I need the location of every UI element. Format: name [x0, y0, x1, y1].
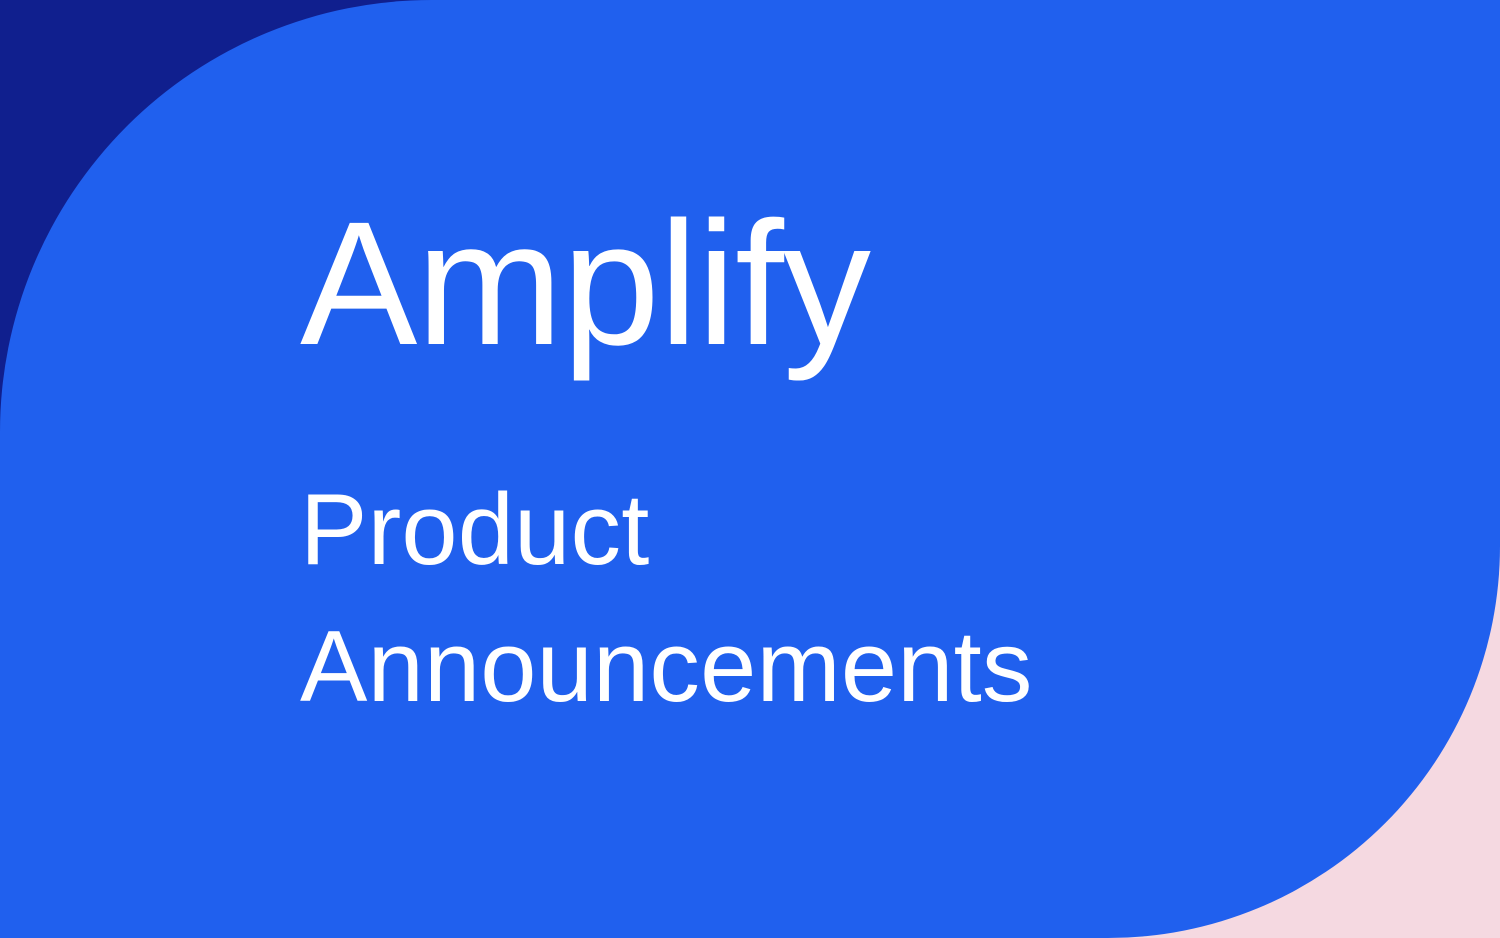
subtitle-line-1: Product [300, 462, 1033, 599]
page-subtitle: Product Announcements [300, 462, 1033, 737]
subtitle-line-2: Announcements [300, 599, 1033, 736]
slide-canvas: Amplify Product Announcements [0, 0, 1500, 938]
page-title: Amplify [300, 196, 870, 372]
title-block: Amplify Product Announcements [300, 0, 1400, 938]
